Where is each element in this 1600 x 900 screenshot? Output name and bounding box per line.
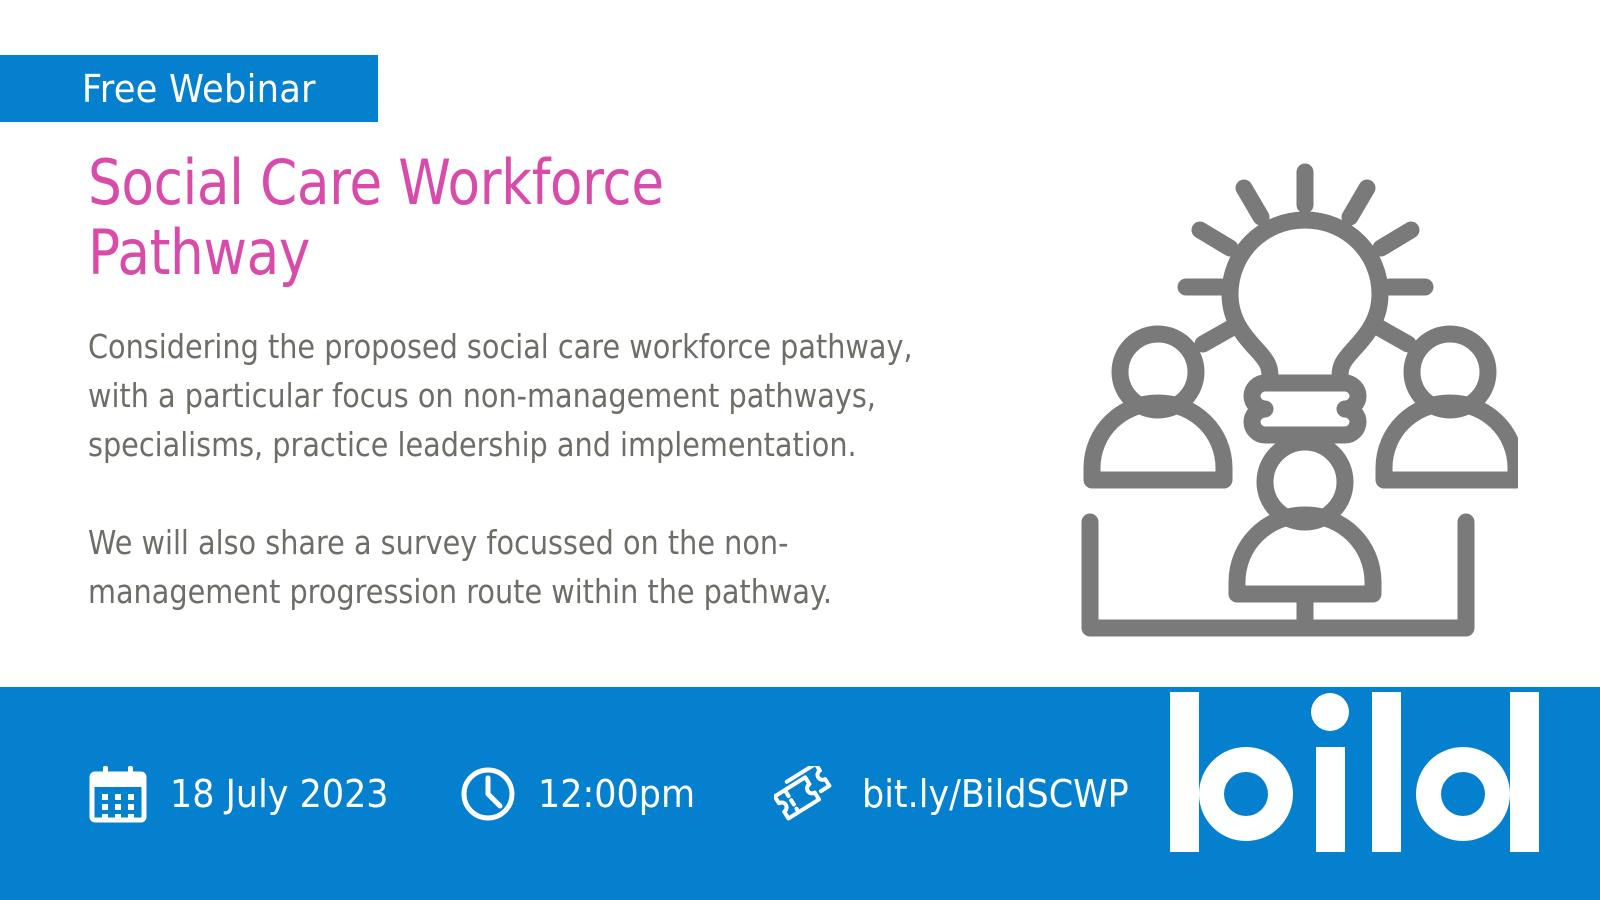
footer-time-value: 12:00pm — [538, 775, 695, 813]
description-block: Considering the proposed social care wor… — [88, 322, 1028, 616]
paragraph-spacer — [88, 469, 1028, 518]
connector-bracket — [1090, 522, 1466, 628]
footer-date-value: 18 July 2023 — [170, 775, 389, 813]
page-title: Social Care Workforce Pathway — [88, 148, 742, 288]
tickets-icon — [774, 766, 836, 822]
footer-date: 18 July 2023 — [88, 764, 408, 824]
person-right-icon — [1384, 334, 1516, 480]
footer-details: 18 July 2023 12:00pm — [88, 687, 1152, 900]
clock-icon — [460, 766, 516, 822]
footer-link-value[interactable]: bit.ly/BildSCWP — [862, 775, 1129, 813]
person-bottom-icon — [1237, 442, 1373, 594]
footer-time: 12:00pm — [460, 766, 709, 822]
lightbulb-icon — [1230, 220, 1380, 435]
description-paragraph-1: Considering the proposed social care wor… — [88, 322, 1028, 469]
description-paragraph-2: We will also share a survey focussed on … — [88, 518, 1028, 616]
light-rays — [1186, 172, 1425, 344]
webinar-promo-poster: Free Webinar Social Care Workforce Pathw… — [0, 0, 1600, 900]
idea-collaboration-illustration — [1058, 150, 1518, 640]
bild-logo — [1168, 686, 1548, 876]
free-webinar-badge-label: Free Webinar — [0, 70, 316, 108]
free-webinar-badge: Free Webinar — [0, 55, 378, 122]
calendar-icon — [88, 764, 148, 824]
person-left-icon — [1092, 334, 1224, 480]
footer-link[interactable]: bit.ly/BildSCWP — [774, 766, 1152, 822]
